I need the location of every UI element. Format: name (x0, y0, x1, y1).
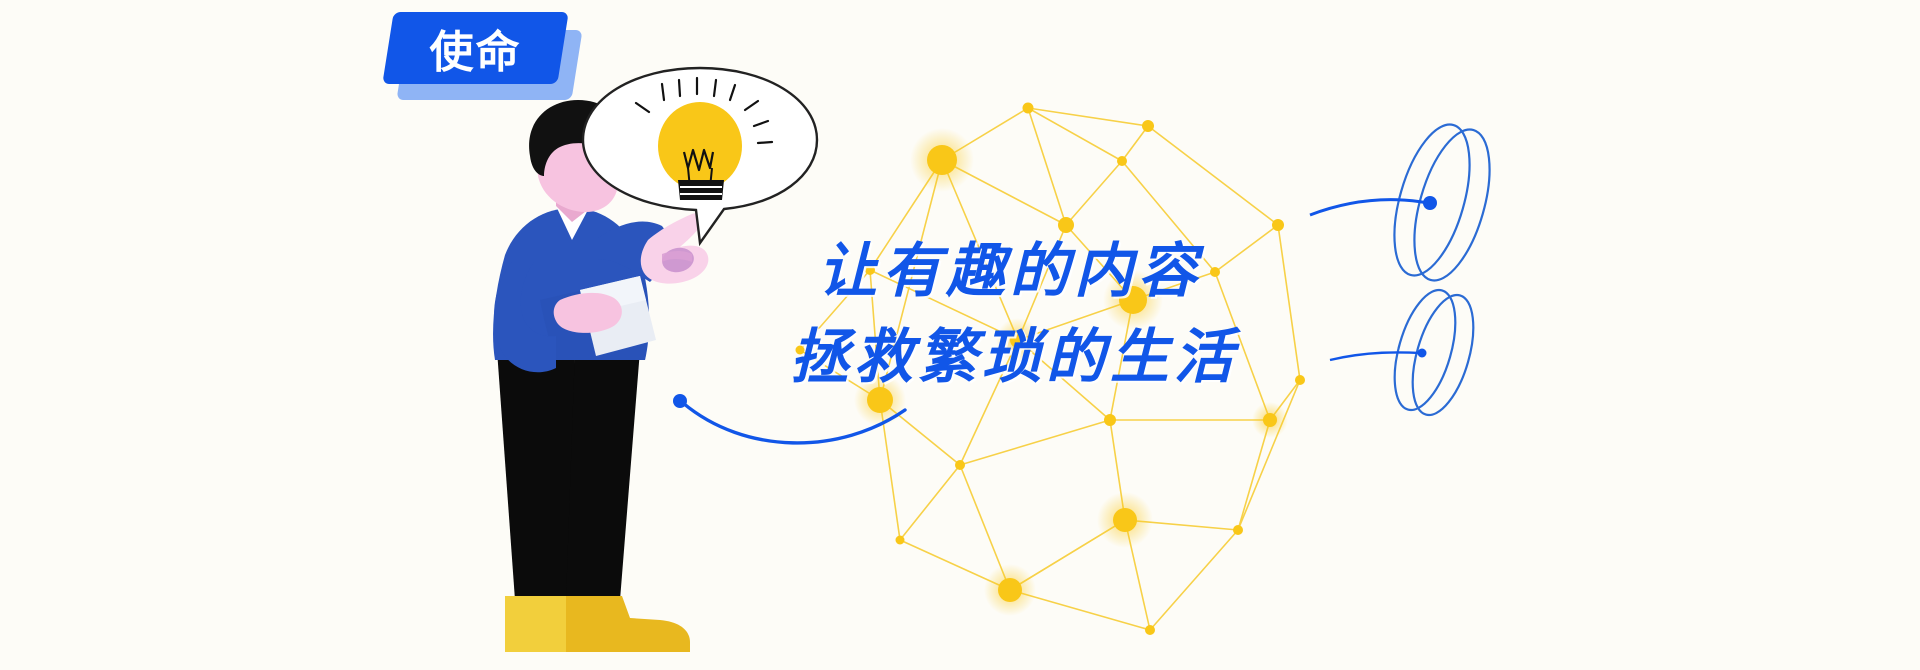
mission-badge[interactable]: 使命 (388, 12, 578, 104)
mission-banner: 使命 让有趣的内容 拯救繁琐的生活 (0, 0, 1920, 670)
headline-line-2: 拯救繁琐的生活 (790, 314, 1438, 400)
badge-label: 使命 (388, 12, 563, 84)
lightbulb-base (678, 180, 724, 200)
headline-line-1: 让有趣的内容 (818, 228, 1438, 314)
lightbulb-glass (658, 102, 742, 190)
headline: 让有趣的内容 拯救繁琐的生活 (818, 228, 1438, 400)
